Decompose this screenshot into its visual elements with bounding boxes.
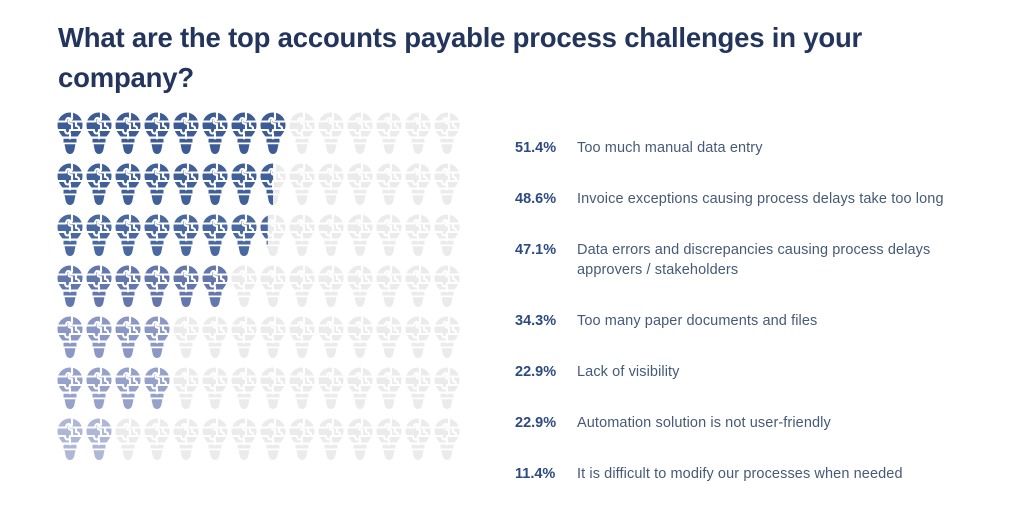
puzzle-lightbulb-icon <box>405 265 434 311</box>
puzzle-lightbulb-icon <box>405 112 434 158</box>
puzzle-lightbulb-icon <box>231 265 260 311</box>
legend-item: 48.6%Invoice exceptions causing process … <box>515 189 1015 209</box>
puzzle-lightbulb-icon <box>260 214 289 260</box>
puzzle-lightbulb-icon <box>144 163 173 209</box>
puzzle-lightbulb-icon <box>202 418 231 464</box>
legend-item: 11.4%It is difficult to modify our proce… <box>515 464 1015 484</box>
puzzle-lightbulb-icon <box>86 367 115 413</box>
legend-percent: 48.6% <box>515 189 571 209</box>
puzzle-lightbulb-icon <box>347 418 376 464</box>
puzzle-lightbulb-icon <box>434 265 463 311</box>
puzzle-lightbulb-icon <box>434 418 463 464</box>
legend-label: Too much manual data entry <box>577 138 1015 158</box>
legend-percent: 22.9% <box>515 362 571 382</box>
legend-label: Invoice exceptions causing process delay… <box>577 189 1015 209</box>
puzzle-lightbulb-icon <box>405 367 434 413</box>
puzzle-lightbulb-icon <box>144 418 173 464</box>
puzzle-lightbulb-icon <box>376 112 405 158</box>
puzzle-lightbulb-icon <box>86 316 115 362</box>
puzzle-lightbulb-icon <box>318 316 347 362</box>
puzzle-lightbulb-icon <box>115 367 144 413</box>
puzzle-lightbulb-icon <box>115 418 144 464</box>
puzzle-lightbulb-icon <box>376 163 405 209</box>
legend-item: 51.4%Too much manual data entry <box>515 138 1015 158</box>
puzzle-lightbulb-icon <box>57 418 86 464</box>
puzzle-lightbulb-icon <box>86 163 115 209</box>
puzzle-lightbulb-icon <box>173 316 202 362</box>
legend-label: Lack of visibility <box>577 362 1015 382</box>
puzzle-lightbulb-icon <box>318 112 347 158</box>
puzzle-lightbulb-icon <box>57 163 86 209</box>
puzzle-lightbulb-icon <box>347 265 376 311</box>
legend-item: 34.3%Too many paper documents and files <box>515 311 1015 331</box>
puzzle-lightbulb-icon <box>376 316 405 362</box>
legend-percent: 47.1% <box>515 240 571 260</box>
legend-percent: 22.9% <box>515 413 571 433</box>
puzzle-lightbulb-icon <box>173 112 202 158</box>
icon-group <box>57 112 477 158</box>
puzzle-lightbulb-icon <box>405 214 434 260</box>
infographic-page: What are the top accounts payable proces… <box>0 0 1035 529</box>
legend-label: Data errors and discrepancies causing pr… <box>577 240 1015 280</box>
puzzle-lightbulb-icon <box>376 367 405 413</box>
puzzle-lightbulb-icon <box>376 418 405 464</box>
puzzle-lightbulb-icon <box>318 418 347 464</box>
legend-percent: 11.4% <box>515 464 571 484</box>
puzzle-lightbulb-icon <box>318 367 347 413</box>
puzzle-lightbulb-icon <box>289 163 318 209</box>
puzzle-lightbulb-icon <box>115 214 144 260</box>
puzzle-lightbulb-icon <box>231 418 260 464</box>
legend-item: 22.9%Automation solution is not user-fri… <box>515 413 1015 433</box>
icon-group <box>57 418 477 464</box>
puzzle-lightbulb-icon <box>115 163 144 209</box>
puzzle-lightbulb-icon <box>202 163 231 209</box>
icon-group <box>57 163 477 209</box>
puzzle-lightbulb-icon <box>86 418 115 464</box>
puzzle-lightbulb-icon <box>173 265 202 311</box>
puzzle-lightbulb-icon <box>86 112 115 158</box>
puzzle-lightbulb-icon <box>347 367 376 413</box>
puzzle-lightbulb-icon <box>318 214 347 260</box>
puzzle-lightbulb-icon <box>434 367 463 413</box>
legend-item: 22.9%Lack of visibility <box>515 362 1015 382</box>
puzzle-lightbulb-icon <box>434 316 463 362</box>
icon-group <box>57 316 477 362</box>
puzzle-lightbulb-icon <box>376 214 405 260</box>
puzzle-lightbulb-icon <box>376 265 405 311</box>
page-title: What are the top accounts payable proces… <box>58 18 958 98</box>
puzzle-lightbulb-icon <box>347 316 376 362</box>
puzzle-lightbulb-icon <box>347 163 376 209</box>
puzzle-lightbulb-icon <box>202 367 231 413</box>
puzzle-lightbulb-icon <box>57 112 86 158</box>
puzzle-lightbulb-icon <box>173 214 202 260</box>
puzzle-lightbulb-icon <box>289 112 318 158</box>
icon-group <box>57 265 477 311</box>
puzzle-lightbulb-icon <box>405 418 434 464</box>
puzzle-lightbulb-icon <box>318 163 347 209</box>
puzzle-lightbulb-icon <box>144 214 173 260</box>
puzzle-lightbulb-icon <box>144 316 173 362</box>
puzzle-lightbulb-icon <box>289 367 318 413</box>
puzzle-lightbulb-icon <box>434 112 463 158</box>
puzzle-lightbulb-icon <box>86 214 115 260</box>
puzzle-lightbulb-icon <box>289 316 318 362</box>
puzzle-lightbulb-icon <box>231 112 260 158</box>
icon-group <box>57 214 477 260</box>
puzzle-lightbulb-icon <box>289 214 318 260</box>
puzzle-lightbulb-icon <box>57 214 86 260</box>
puzzle-lightbulb-icon <box>347 214 376 260</box>
puzzle-lightbulb-icon <box>57 316 86 362</box>
puzzle-lightbulb-icon <box>318 265 347 311</box>
puzzle-lightbulb-icon <box>231 316 260 362</box>
puzzle-lightbulb-icon <box>260 265 289 311</box>
puzzle-lightbulb-icon <box>173 367 202 413</box>
legend-label: Too many paper documents and files <box>577 311 1015 331</box>
puzzle-lightbulb-icon <box>260 112 289 158</box>
puzzle-lightbulb-icon <box>260 316 289 362</box>
puzzle-lightbulb-icon <box>289 418 318 464</box>
puzzle-lightbulb-icon <box>115 265 144 311</box>
puzzle-lightbulb-icon <box>260 367 289 413</box>
puzzle-lightbulb-icon <box>347 112 376 158</box>
puzzle-lightbulb-icon <box>115 112 144 158</box>
puzzle-lightbulb-icon <box>202 265 231 311</box>
puzzle-lightbulb-icon <box>144 265 173 311</box>
puzzle-lightbulb-icon <box>434 214 463 260</box>
puzzle-lightbulb-icon <box>231 214 260 260</box>
puzzle-lightbulb-icon <box>405 163 434 209</box>
puzzle-lightbulb-icon <box>57 367 86 413</box>
legend-label: It is difficult to modify our processes … <box>577 464 1015 484</box>
puzzle-lightbulb-icon <box>144 112 173 158</box>
puzzle-lightbulb-icon <box>202 214 231 260</box>
legend-label: Automation solution is not user-friendly <box>577 413 1015 433</box>
puzzle-lightbulb-icon <box>231 367 260 413</box>
puzzle-lightbulb-icon <box>173 163 202 209</box>
legend-percent: 34.3% <box>515 311 571 331</box>
puzzle-lightbulb-icon <box>289 265 318 311</box>
puzzle-lightbulb-icon <box>260 163 289 209</box>
puzzle-lightbulb-icon <box>434 163 463 209</box>
puzzle-lightbulb-icon <box>144 367 173 413</box>
legend-item: 47.1%Data errors and discrepancies causi… <box>515 240 1015 280</box>
puzzle-lightbulb-icon <box>260 418 289 464</box>
puzzle-lightbulb-icon <box>231 163 260 209</box>
puzzle-lightbulb-icon <box>405 316 434 362</box>
puzzle-lightbulb-icon <box>173 418 202 464</box>
puzzle-lightbulb-icon <box>202 316 231 362</box>
puzzle-lightbulb-icon <box>57 265 86 311</box>
icon-group <box>57 367 477 413</box>
puzzle-lightbulb-icon <box>202 112 231 158</box>
puzzle-lightbulb-icon <box>86 265 115 311</box>
puzzle-lightbulb-icon <box>115 316 144 362</box>
legend-percent: 51.4% <box>515 138 571 158</box>
